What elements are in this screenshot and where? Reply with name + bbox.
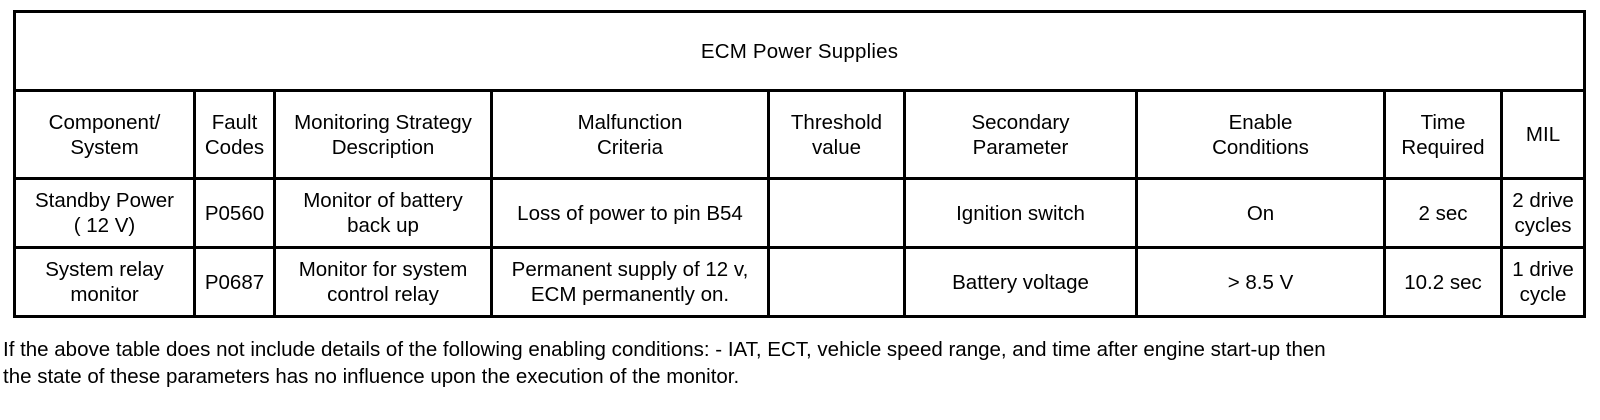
column-header-fault-codes: Fault Codes [195,91,275,179]
ecm-power-supplies-table: ECM Power Supplies Component/ System Fau… [13,10,1586,318]
cell-threshold-value [769,248,905,317]
table-row: System relay monitor P0687 Monitor for s… [15,248,1585,317]
column-header-monitoring-strategy: Monitoring Strategy Description [275,91,492,179]
cell-malfunction-criteria: Loss of power to pin B54 [492,179,769,248]
column-header-threshold-value: Threshold value [769,91,905,179]
footnote-text: If the above table does not include deta… [3,336,1597,391]
cell-fault-codes: P0687 [195,248,275,317]
cell-threshold-value [769,179,905,248]
cell-component-system: System relay monitor [15,248,195,317]
cell-time-required: 10.2 sec [1385,248,1502,317]
column-header-time-required: Time Required [1385,91,1502,179]
column-header-secondary-parameter: Secondary Parameter [905,91,1137,179]
cell-secondary-parameter: Ignition switch [905,179,1137,248]
document-page: ECM Power Supplies Component/ System Fau… [0,0,1600,420]
cell-enable-conditions: On [1137,179,1385,248]
column-header-enable-conditions: Enable Conditions [1137,91,1385,179]
ecm-power-supplies-table-container: ECM Power Supplies Component/ System Fau… [13,10,1583,318]
cell-time-required: 2 sec [1385,179,1502,248]
cell-mil: 2 drive cycles [1502,179,1585,248]
table-title-row: ECM Power Supplies [15,12,1585,91]
cell-mil: 1 drive cycle [1502,248,1585,317]
table-row: Standby Power ( 12 V) P0560 Monitor of b… [15,179,1585,248]
column-header-component-system: Component/ System [15,91,195,179]
cell-secondary-parameter: Battery voltage [905,248,1137,317]
table-title: ECM Power Supplies [15,12,1585,91]
cell-monitoring-strategy: Monitor for system control relay [275,248,492,317]
cell-monitoring-strategy: Monitor of battery back up [275,179,492,248]
cell-enable-conditions: > 8.5 V [1137,248,1385,317]
table-header-row: Component/ System Fault Codes Monitoring… [15,91,1585,179]
cell-fault-codes: P0560 [195,179,275,248]
column-header-malfunction-criteria: Malfunction Criteria [492,91,769,179]
cell-component-system: Standby Power ( 12 V) [15,179,195,248]
column-header-mil: MIL [1502,91,1585,179]
cell-malfunction-criteria: Permanent supply of 12 v, ECM permanentl… [492,248,769,317]
